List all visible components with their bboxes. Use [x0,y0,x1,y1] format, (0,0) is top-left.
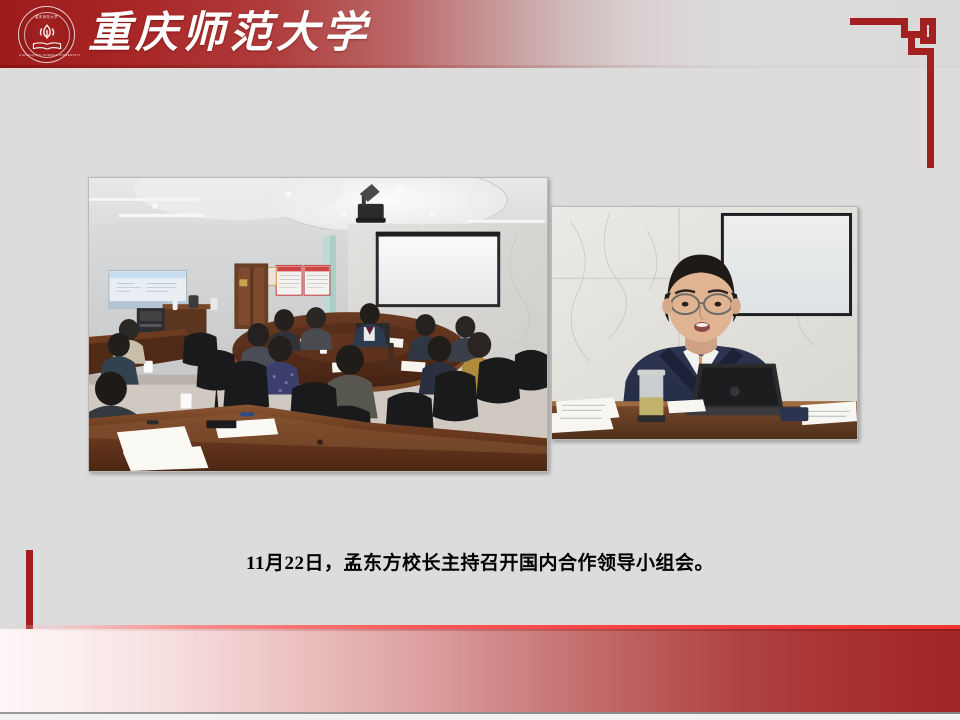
photo-meeting-room-wide [88,177,548,472]
university-name-title: 重庆师范大学 [88,5,370,63]
seal-arc-top-text: 重庆师范大学 [19,14,74,19]
slide-caption: 11月22日，孟东方校长主持召开国内合作领导小组会。 [0,548,960,575]
seal-arc-bottom-text: CHONGQING NORMAL UNIVERSITY [19,53,74,57]
presentation-slide: 重庆师范大学 CHONGQING NORMAL UNIVERSITY 重庆师范大… [0,0,960,720]
meeting-room-illustration [89,178,547,471]
photo-speaker-closeup [551,206,858,440]
university-seal-logo: 重庆师范大学 CHONGQING NORMAL UNIVERSITY [18,6,75,63]
chinese-corner-ornament-top-right [850,10,942,168]
open-book-icon [32,42,62,50]
flame-book-emblem-icon [34,22,60,44]
speaker-portrait-illustration [552,207,857,439]
slide-header-band: 重庆师范大学 CHONGQING NORMAL UNIVERSITY 重庆师范大… [0,0,960,68]
footer-gradient-band [0,629,960,713]
slide-bottom-edge [0,714,960,720]
